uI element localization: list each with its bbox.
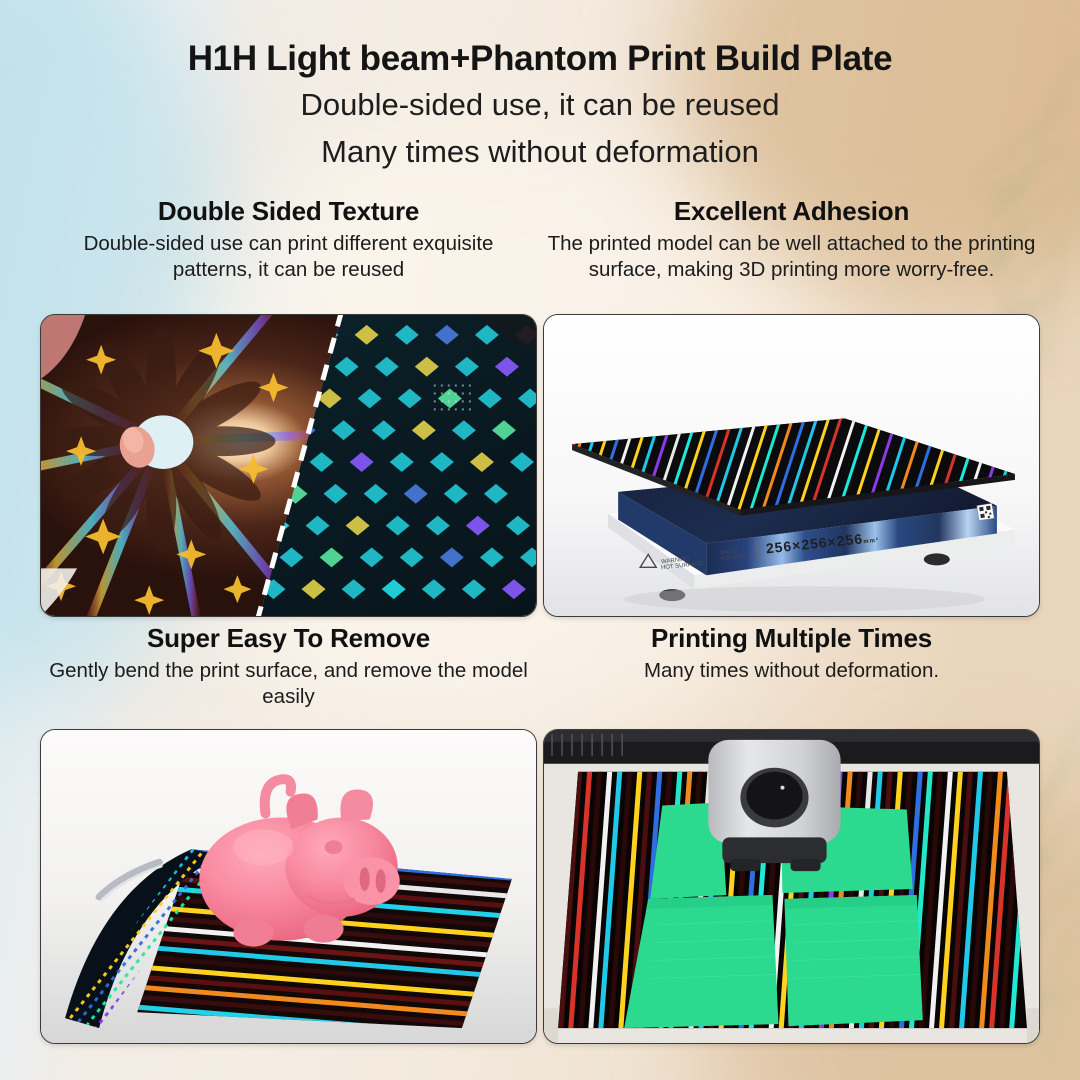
- pink-pig-on-flexible-plate-photo: [40, 729, 537, 1044]
- feature-text: Gently bend the print surface, and remov…: [44, 658, 533, 710]
- feature-title: Super Easy To Remove: [44, 623, 533, 654]
- feature-text: Double-sided use can print different exq…: [44, 231, 533, 283]
- feature-card-double-sided-texture: Double Sided Texture Double-sided use ca…: [40, 196, 537, 617]
- build-plate-on-heatbed-photo: WARNING HOT SURFACE BUILD VOLUME 256×256…: [543, 314, 1040, 617]
- infographic-canvas: H1H Light beam+Phantom Print Build Plate…: [0, 0, 1080, 1080]
- feature-caption: Excellent Adhesion The printed model can…: [543, 196, 1040, 284]
- headline-block: H1H Light beam+Phantom Print Build Plate…: [0, 38, 1080, 172]
- feature-card-super-easy-to-remove: Super Easy To Remove Gently bend the pri…: [40, 623, 537, 1044]
- feature-text: Many times without deformation.: [547, 658, 1036, 684]
- feature-title: Printing Multiple Times: [547, 623, 1036, 654]
- feature-text: The printed model can be well attached t…: [547, 231, 1036, 283]
- printer-printing-green-plates-photo: [543, 729, 1040, 1044]
- headline-subtitle-line-1: Double-sided use, it can be reused: [0, 84, 1080, 125]
- headline-subtitle-line-2: Many times without deformation: [0, 131, 1080, 172]
- feature-card-excellent-adhesion: Excellent Adhesion The printed model can…: [543, 196, 1040, 617]
- feature-title: Double Sided Texture: [44, 196, 533, 227]
- feature-caption: Super Easy To Remove Gently bend the pri…: [40, 623, 537, 711]
- feature-caption: Printing Multiple Times Many times witho…: [543, 623, 1040, 684]
- feature-card-printing-multiple-times: Printing Multiple Times Many times witho…: [543, 623, 1040, 1044]
- page-title: H1H Light beam+Phantom Print Build Plate: [0, 38, 1080, 79]
- feature-caption: Double Sided Texture Double-sided use ca…: [40, 196, 537, 284]
- feature-title: Excellent Adhesion: [547, 196, 1036, 227]
- holographic-texture-split-photo: [40, 314, 537, 617]
- feature-grid: Double Sided Texture Double-sided use ca…: [40, 196, 1040, 1044]
